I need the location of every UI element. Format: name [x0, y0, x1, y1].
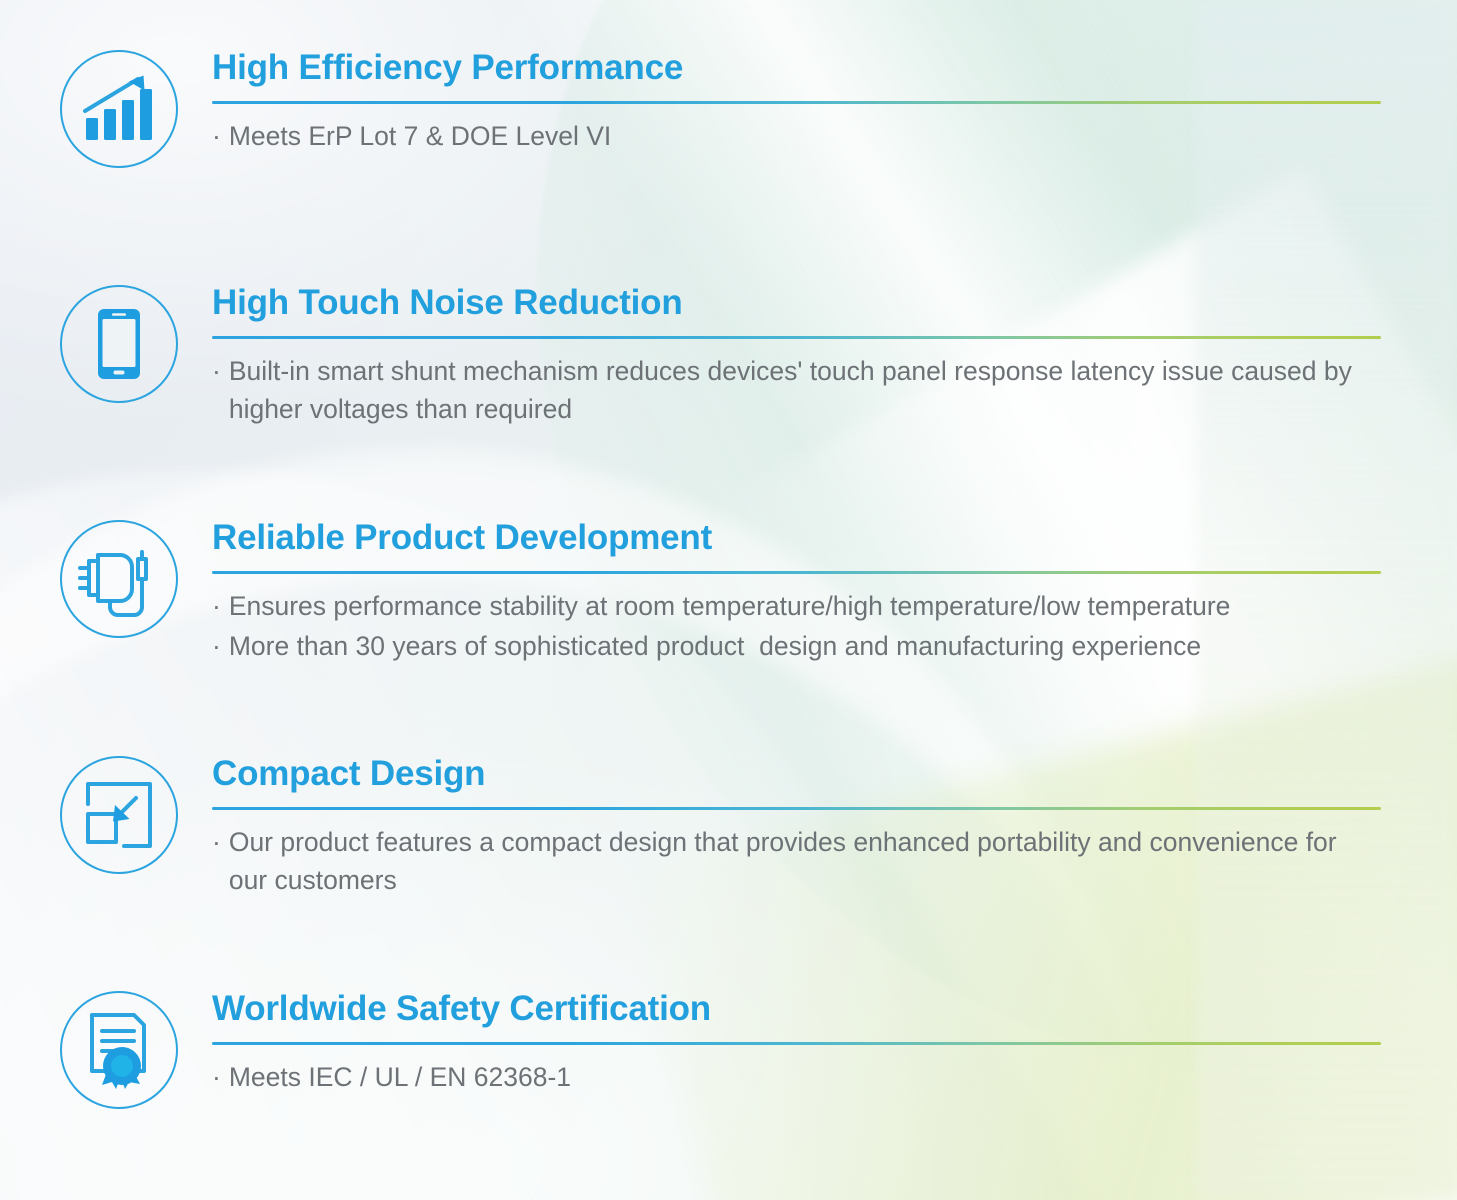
bullet-item: · More than 30 years of sophisticated pr…: [212, 628, 1381, 666]
feature-body: Worldwide Safety Certification · Meets I…: [212, 991, 1457, 1097]
feature-body: High Touch Noise Reduction · Built-in sm…: [212, 285, 1457, 428]
bullet-text: Meets ErP Lot 7 & DOE Level VI: [229, 118, 1381, 156]
feature-list: High Efficiency Performance · Meets ErP …: [0, 0, 1457, 1200]
power-adapter-icon: [60, 520, 178, 638]
feature-highlights-page: High Efficiency Performance · Meets ErP …: [0, 0, 1457, 1200]
bullet-item: · Our product features a compact design …: [212, 824, 1381, 899]
feature-bullets: · Built-in smart shunt mechanism reduces…: [212, 353, 1381, 428]
bar-chart-growth-icon: [60, 50, 178, 168]
feature-body: High Efficiency Performance · Meets ErP …: [212, 50, 1457, 156]
bullet-marker: ·: [212, 588, 221, 626]
bullet-marker: ·: [212, 628, 221, 666]
feature-item-high-touch-noise-reduction: High Touch Noise Reduction · Built-in sm…: [0, 285, 1457, 428]
bullet-marker: ·: [212, 118, 221, 156]
bullet-text: Built-in smart shunt mechanism reduces d…: [229, 353, 1381, 428]
feature-title: Reliable Product Development: [212, 520, 1381, 555]
feature-icon-wrap: [57, 520, 181, 638]
bullet-marker: ·: [212, 1059, 221, 1097]
feature-divider: [212, 1042, 1381, 1045]
feature-bullets: · Meets ErP Lot 7 & DOE Level VI: [212, 118, 1381, 156]
feature-bullets: · Our product features a compact design …: [212, 824, 1381, 899]
compact-resize-icon: [60, 756, 178, 874]
bullet-item: · Built-in smart shunt mechanism reduces…: [212, 353, 1381, 428]
smartphone-icon: [60, 285, 178, 403]
feature-title: Compact Design: [212, 756, 1381, 791]
feature-body: Compact Design · Our product features a …: [212, 756, 1457, 899]
bullet-marker: ·: [212, 824, 221, 862]
feature-bullets: · Meets IEC / UL / EN 62368-1: [212, 1059, 1381, 1097]
bullet-text: More than 30 years of sophisticated prod…: [229, 628, 1381, 666]
bullet-text: Our product features a compact design th…: [229, 824, 1381, 899]
bullet-text: Ensures performance stability at room te…: [229, 588, 1381, 626]
feature-bullets: · Ensures performance stability at room …: [212, 588, 1381, 665]
feature-icon-wrap: [57, 756, 181, 874]
bullet-item: · Meets IEC / UL / EN 62368-1: [212, 1059, 1381, 1097]
certificate-seal-icon: [60, 991, 178, 1109]
feature-title: High Efficiency Performance: [212, 50, 1381, 85]
feature-icon-wrap: [57, 991, 181, 1109]
bullet-marker: ·: [212, 353, 221, 391]
feature-title: Worldwide Safety Certification: [212, 991, 1381, 1026]
feature-icon-wrap: [57, 285, 181, 403]
feature-item-high-efficiency-performance: High Efficiency Performance · Meets ErP …: [0, 50, 1457, 168]
bullet-item: · Ensures performance stability at room …: [212, 588, 1381, 626]
bullet-text: Meets IEC / UL / EN 62368-1: [229, 1059, 1381, 1097]
feature-title: High Touch Noise Reduction: [212, 285, 1381, 320]
feature-divider: [212, 336, 1381, 339]
feature-divider: [212, 571, 1381, 574]
feature-item-reliable-product-development: Reliable Product Development · Ensures p…: [0, 520, 1457, 665]
feature-divider: [212, 101, 1381, 104]
feature-item-worldwide-safety-certification: Worldwide Safety Certification · Meets I…: [0, 991, 1457, 1109]
feature-item-compact-design: Compact Design · Our product features a …: [0, 756, 1457, 899]
feature-body: Reliable Product Development · Ensures p…: [212, 520, 1457, 665]
feature-icon-wrap: [57, 50, 181, 168]
bullet-item: · Meets ErP Lot 7 & DOE Level VI: [212, 118, 1381, 156]
feature-divider: [212, 807, 1381, 810]
